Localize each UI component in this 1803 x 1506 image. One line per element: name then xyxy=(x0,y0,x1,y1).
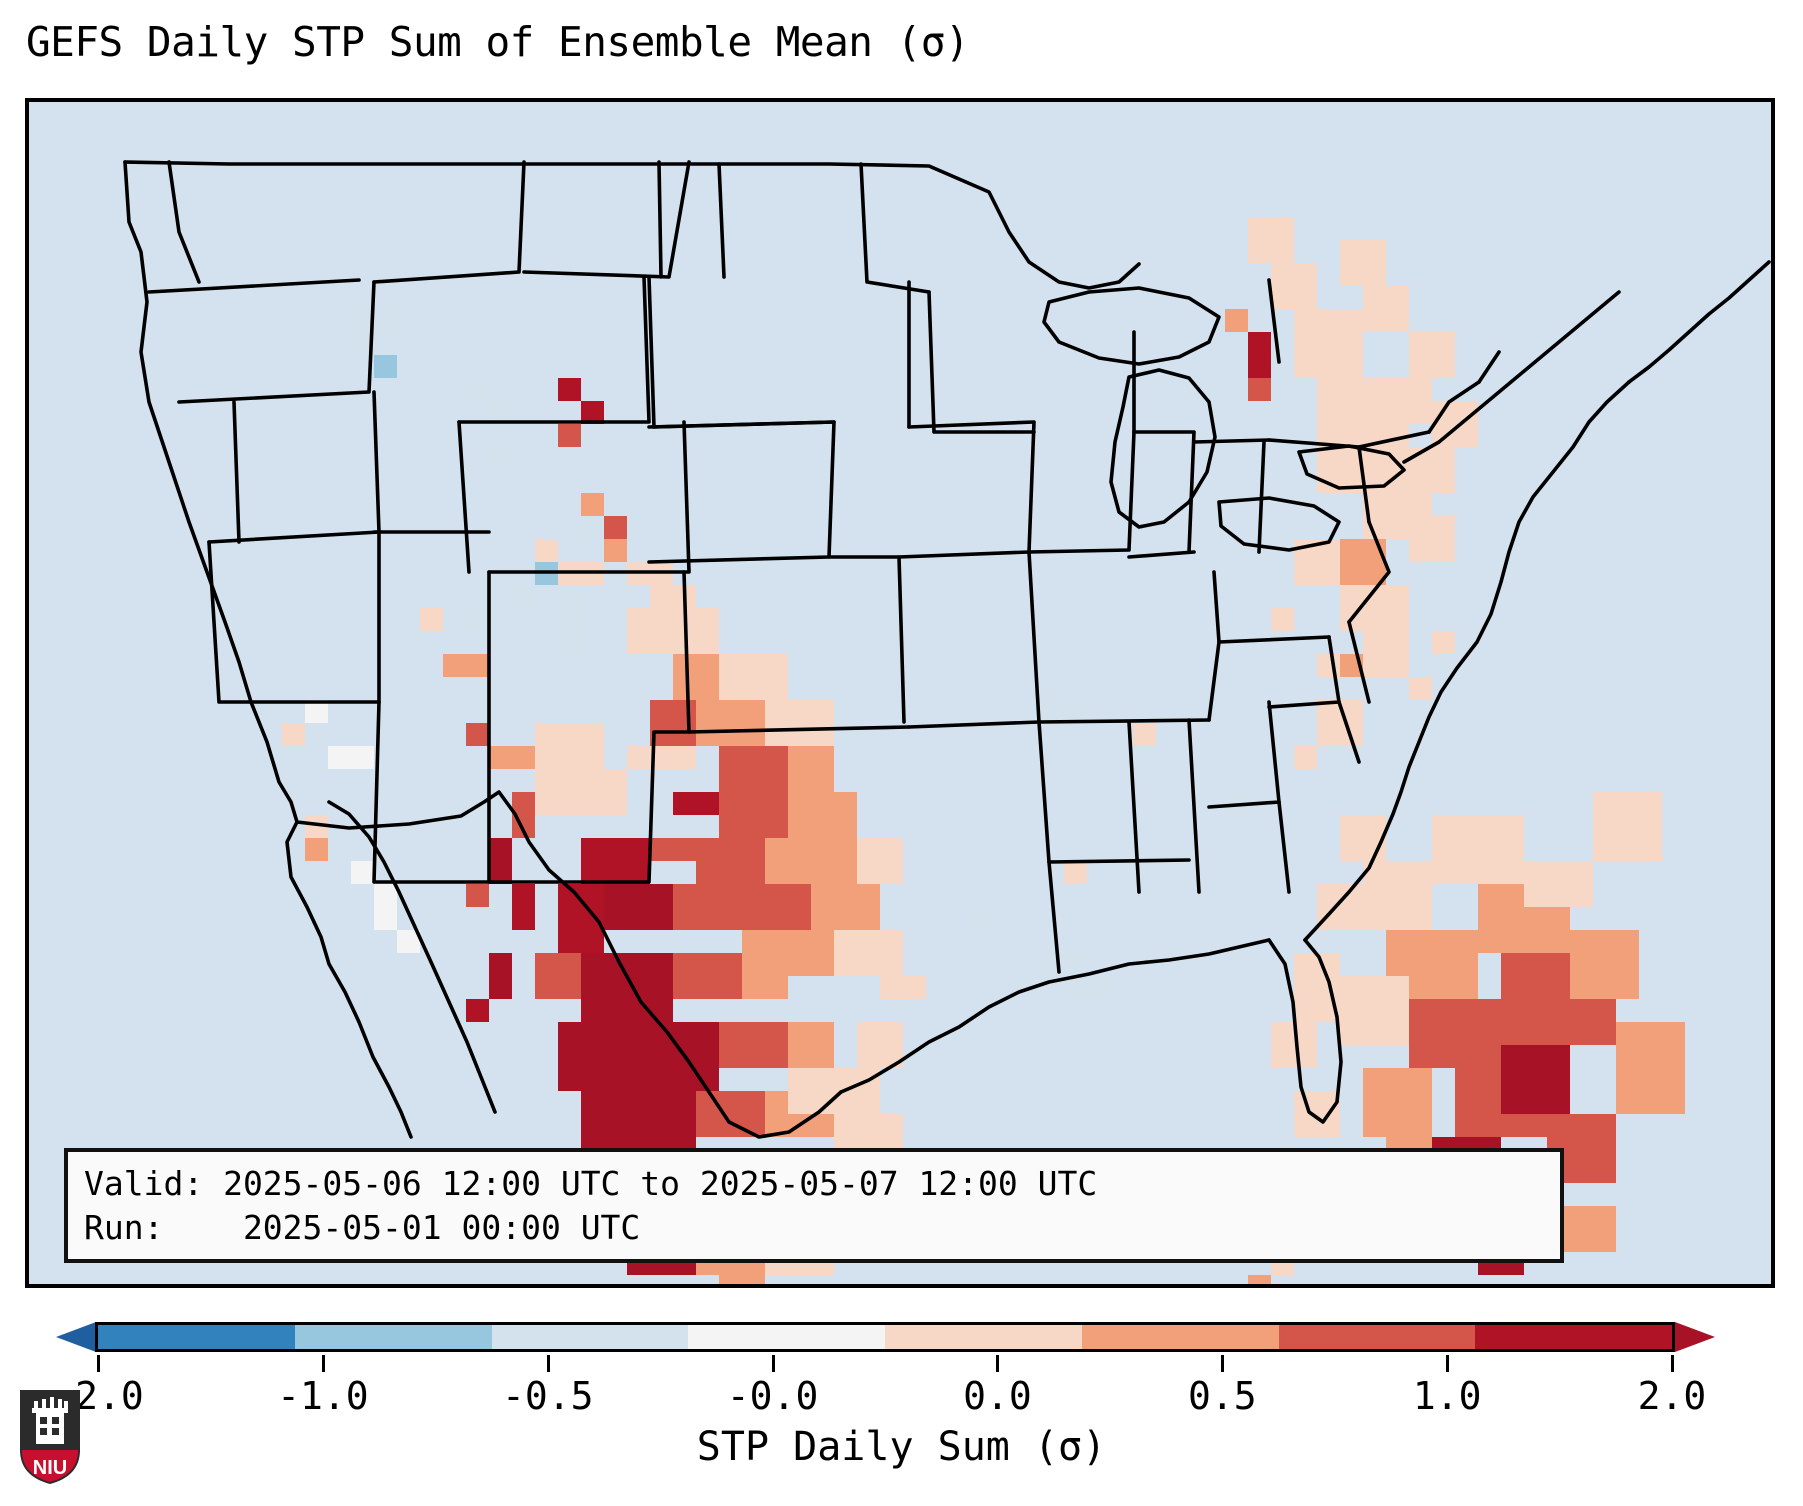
heatmap-cell xyxy=(489,838,512,884)
colorbar-tick-label: -1.0 xyxy=(277,1374,369,1418)
colorbar-segment-0 xyxy=(98,1325,295,1349)
heatmap-cell xyxy=(696,700,765,746)
heatmap-cell xyxy=(1616,1022,1685,1114)
heatmap-cell xyxy=(650,838,696,861)
colorbar-extend-right-icon xyxy=(1675,1322,1715,1352)
heatmap-cell xyxy=(627,608,719,654)
heatmap-cell xyxy=(673,792,719,815)
heatmap-cell xyxy=(604,539,627,562)
heatmap-cell xyxy=(857,1022,903,1068)
heatmap-cell xyxy=(742,930,834,976)
heatmap-cell xyxy=(1386,608,1409,631)
colorbar-extend-left-icon xyxy=(56,1322,96,1352)
heatmap-cell xyxy=(535,539,558,562)
colorbar-segment-2 xyxy=(492,1325,689,1349)
heatmap-cell xyxy=(1524,861,1593,907)
heatmap-cell xyxy=(1409,332,1455,378)
niu-logo-text: NIU xyxy=(33,1457,67,1479)
heatmap-cell xyxy=(1294,309,1363,378)
heatmap-cell xyxy=(788,746,834,792)
heatmap-cell xyxy=(1041,953,1087,976)
heatmap-cell xyxy=(1271,263,1317,309)
border-path xyxy=(1194,440,1269,442)
colorbar-tick xyxy=(1446,1355,1449,1372)
heatmap-cell xyxy=(1363,861,1432,930)
heatmap-cell xyxy=(1271,608,1294,631)
heatmap-cell xyxy=(1317,378,1386,424)
heatmap-cell xyxy=(1409,677,1432,700)
heatmap-cell xyxy=(719,1275,765,1284)
colorbar-tick-label: 1.0 xyxy=(1413,1374,1482,1418)
heatmap-cell xyxy=(1248,217,1294,263)
colorbar-gradient[interactable] xyxy=(95,1322,1675,1352)
heatmap-cell xyxy=(788,792,857,838)
border-path xyxy=(659,162,661,277)
border-path xyxy=(1039,720,1209,722)
heatmap-cell xyxy=(282,723,305,746)
heatmap-cell xyxy=(1294,1091,1340,1137)
heatmap-cell xyxy=(1363,631,1409,677)
colorbar-tick xyxy=(322,1355,325,1372)
heatmap-cell xyxy=(489,953,512,999)
heatmap-cell xyxy=(466,723,489,746)
heatmap-cell xyxy=(719,654,788,700)
colorbar-axis-label: STP Daily Sum (σ) xyxy=(0,1424,1803,1470)
colorbar-tick-labels: -2.0-1.0-0.5-0.00.00.51.02.0 xyxy=(0,1374,1803,1424)
heatmap-cell xyxy=(558,424,581,447)
heatmap-cell xyxy=(558,378,581,401)
colorbar-tick-label: -0.0 xyxy=(727,1374,819,1418)
colorbar-tick xyxy=(97,1355,100,1372)
colorbar-segment-6 xyxy=(1279,1325,1476,1349)
heatmap-cell xyxy=(765,838,857,884)
colorbar-segment-7 xyxy=(1475,1325,1672,1349)
heatmap-cell xyxy=(512,884,535,930)
heatmap-cell xyxy=(305,838,328,861)
niu-logo: NIU xyxy=(18,1388,82,1486)
heatmap-cell xyxy=(466,999,489,1022)
heatmap-cell xyxy=(558,631,581,654)
colorbar-tick xyxy=(1221,1355,1224,1372)
heatmap-cell xyxy=(420,608,443,631)
colorbar-tick xyxy=(772,1355,775,1372)
heatmap-cell xyxy=(696,1091,765,1137)
heatmap-cell xyxy=(466,608,489,631)
heatmap-cell xyxy=(604,884,673,930)
heatmap-cell xyxy=(1432,815,1524,884)
heatmap-cell xyxy=(719,792,788,838)
title-text: GEFS Daily STP Sum of Ensemble Mean (σ) xyxy=(26,18,969,66)
colorbar-segment-5 xyxy=(1082,1325,1279,1349)
heatmap-cell xyxy=(558,585,581,631)
heatmap-cell xyxy=(604,516,627,539)
heatmap-cell xyxy=(1363,1068,1432,1137)
colorbar-segment-3 xyxy=(688,1325,885,1349)
info-run-line: Run: 2025-05-01 00:00 UTC xyxy=(84,1206,1544,1250)
heatmap-cell xyxy=(788,1022,834,1068)
info-valid-line: Valid: 2025-05-06 12:00 UTC to 2025-05-0… xyxy=(84,1162,1544,1206)
colorbar-segment-1 xyxy=(295,1325,492,1349)
heatmap-cell xyxy=(1133,723,1156,746)
heatmap-cell xyxy=(535,723,604,769)
info-box: Valid: 2025-05-06 12:00 UTC to 2025-05-0… xyxy=(64,1148,1564,1263)
heatmap-cell xyxy=(673,953,742,999)
heatmap-cell xyxy=(581,838,650,884)
heatmap-cell xyxy=(1041,700,1087,723)
heatmap-cell xyxy=(581,493,604,516)
heatmap-cell xyxy=(972,907,995,930)
heatmap-cell xyxy=(719,1022,788,1068)
colorbar-tick-label: 2.0 xyxy=(1638,1374,1707,1418)
heatmap-cell xyxy=(1225,309,1248,332)
page-title: GEFS Daily STP Sum of Ensemble Mean (σ) xyxy=(26,18,969,66)
heatmap-cell xyxy=(1340,815,1386,861)
heatmap-cell xyxy=(1501,1045,1570,1114)
colorbar-tick xyxy=(996,1355,999,1372)
colorbar-tick-label: 0.0 xyxy=(963,1374,1032,1418)
heatmap-cell xyxy=(627,746,696,769)
heatmap-cell xyxy=(1340,240,1386,286)
colorbar-tick-label: 0.5 xyxy=(1188,1374,1257,1418)
heatmap-cell xyxy=(1340,976,1409,1045)
heatmap-cell xyxy=(443,654,466,677)
heatmap-cell xyxy=(1248,1275,1271,1284)
heatmap-cell xyxy=(1248,378,1271,401)
heatmap-cell xyxy=(1294,953,1340,1022)
heatmap-cell xyxy=(466,378,489,401)
colorbar-tick xyxy=(547,1355,550,1372)
colorbar-ticks xyxy=(0,1355,1803,1375)
heatmap-cell xyxy=(466,884,489,907)
heatmap-cell xyxy=(1386,378,1432,424)
heatmap-cell xyxy=(1317,884,1363,930)
heatmap-cell xyxy=(1432,631,1455,654)
heatmap-cell xyxy=(1248,332,1271,378)
heatmap-cell xyxy=(1570,930,1639,999)
heatmap-cell xyxy=(581,516,604,539)
heatmap-cell xyxy=(1064,861,1087,884)
heatmap-cell xyxy=(1409,516,1455,562)
heatmap-cell xyxy=(1409,999,1501,1068)
heatmap-cell xyxy=(673,884,719,930)
heatmap-cell xyxy=(351,861,374,884)
heatmap-cell xyxy=(374,355,397,378)
colorbar-tick-label: -0.5 xyxy=(502,1374,594,1418)
colorbar-segment-4 xyxy=(885,1325,1082,1349)
heatmap-cell xyxy=(1294,746,1317,769)
heatmap-cell xyxy=(811,884,880,930)
heatmap-cell xyxy=(696,838,765,884)
heatmap-cell xyxy=(834,930,903,976)
heatmap-cell xyxy=(627,1022,719,1091)
heatmap-cell xyxy=(1363,286,1409,332)
map-canvas xyxy=(29,102,1771,1284)
heatmap-cell xyxy=(489,447,512,470)
heatmap-cell xyxy=(535,953,581,999)
heatmap-cell xyxy=(1593,792,1662,861)
map-panel[interactable] xyxy=(25,98,1775,1288)
heatmap-cell xyxy=(489,746,535,769)
heatmap-cell xyxy=(650,585,696,608)
heatmap-cell xyxy=(466,654,489,677)
colorbar-tick xyxy=(1671,1355,1674,1372)
heatmap-cell xyxy=(857,838,903,884)
heatmap-cell xyxy=(788,1068,880,1114)
heatmap-cell xyxy=(880,976,926,999)
heatmap-cell xyxy=(558,1022,627,1091)
heatmap-cell xyxy=(535,769,627,815)
colorbar[interactable]: -2.0-1.0-0.5-0.00.00.51.02.0 xyxy=(0,1318,1803,1378)
heatmap-cell xyxy=(374,884,397,930)
heatmap-cell xyxy=(581,953,673,1022)
heatmap-cell xyxy=(328,746,374,769)
heatmap-cell xyxy=(765,700,834,746)
heatmap-cell xyxy=(719,746,788,792)
heatmap-cell xyxy=(512,585,535,608)
heatmap-cell xyxy=(719,884,811,930)
